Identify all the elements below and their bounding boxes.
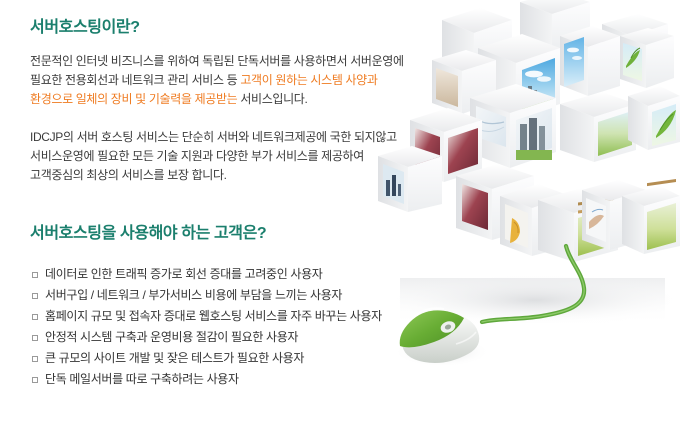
cube-photo-leaf-right bbox=[628, 86, 680, 150]
paragraph-highlight: 환경으로 일체의 장비 및 기술력을 제공받는 bbox=[30, 92, 237, 106]
paragraph-line: IDCJP의 서버 호스팅 서비스는 단순히 서버와 네트워크제공에 국한 되지… bbox=[30, 128, 397, 147]
list-item: 서버구입 / 네트워크 / 부가서비스 비용에 부담을 느끼는 사용자 bbox=[30, 285, 382, 306]
square-bullet-icon bbox=[32, 335, 38, 341]
paragraph-highlight: 고객이 원하는 시스템 사양과 bbox=[240, 73, 377, 87]
paragraph-text: 필요한 전용회선과 네트워크 관리 서비스 등 bbox=[30, 73, 240, 87]
paragraph-line: 환경으로 일체의 장비 및 기술력을 제공받는 서비스입니다. bbox=[30, 90, 404, 109]
square-bullet-icon bbox=[32, 314, 38, 320]
page-root: 서버호스팅이란? 전문적인 인터넷 비즈니스를 위하여 독립된 단독서버를 사용… bbox=[0, 0, 680, 425]
cube-photo-map bbox=[470, 84, 556, 168]
intro-paragraph-1: 전문적인 인터넷 비즈니스를 위하여 독립된 단독서버를 사용하면서 서버운영에… bbox=[30, 52, 404, 109]
square-bullet-icon bbox=[32, 356, 38, 362]
list-item: 안정적 시스템 구축과 운영비용 절감이 필요한 사용자 bbox=[30, 327, 382, 348]
intro-paragraph-2: IDCJP의 서버 호스팅 서비스는 단순히 서버와 네트워크제공에 국한 되지… bbox=[30, 128, 397, 185]
paragraph-line: 전문적인 인터넷 비즈니스를 위하여 독립된 단독서버를 사용하면서 서버운영에 bbox=[30, 52, 404, 71]
list-item-label: 안정적 시스템 구축과 운영비용 절감이 필요한 사용자 bbox=[45, 327, 298, 348]
cube-photo-grass-right bbox=[560, 92, 636, 162]
paragraph-line: 필요한 전용회선과 네트워크 관리 서비스 등 고객이 원하는 시스템 사양과 bbox=[30, 71, 404, 90]
paragraph-text: 전문적인 인터넷 비즈니스를 위하여 독립된 단독서버를 사용하면서 서버운영에 bbox=[30, 54, 404, 68]
cube-photo-leaf-top bbox=[620, 28, 674, 88]
paragraph-line: 서비스운영에 필요한 모든 기술 지원과 다양한 부가 서비스를 제공하여 bbox=[30, 147, 397, 166]
square-bullet-icon bbox=[32, 272, 38, 278]
customer-bullet-list: 데이터로 인한 트래픽 증가로 회선 증대를 고려중인 사용자 서버구입 / 네… bbox=[30, 264, 382, 390]
list-item-label: 큰 규모의 사이트 개발 및 잦은 테스트가 필요한 사용자 bbox=[45, 348, 304, 369]
section-title-intro: 서버호스팅이란? bbox=[30, 18, 140, 37]
list-item-label: 서버구입 / 네트워크 / 부가서비스 비용에 부담을 느끼는 사용자 bbox=[45, 285, 342, 306]
square-bullet-icon bbox=[32, 293, 38, 299]
cube-photo-sky-tall bbox=[560, 26, 620, 96]
paragraph-text: 서비스입니다. bbox=[237, 92, 307, 106]
illustration-cube-montage bbox=[370, 0, 680, 425]
list-item: 단독 메일서버를 따로 구축하려는 사용자 bbox=[30, 369, 382, 390]
list-item: 데이터로 인한 트래픽 증가로 회선 증대를 고려중인 사용자 bbox=[30, 264, 382, 285]
section-title-customers: 서버호스팅을 사용해야 하는 고객은? bbox=[30, 224, 266, 243]
list-item-label: 단독 메일서버를 따로 구축하려는 사용자 bbox=[45, 369, 239, 390]
list-item-label: 데이터로 인한 트래픽 증가로 회선 증대를 고려중인 사용자 bbox=[45, 264, 322, 285]
list-item: 큰 규모의 사이트 개발 및 잦은 테스트가 필요한 사용자 bbox=[30, 348, 382, 369]
cube-montage-svg bbox=[370, 0, 680, 425]
list-item: 홈페이지 규모 및 접속자 증대로 웹호스팅 서비스를 자주 바꾸는 사용자 bbox=[30, 306, 382, 327]
paragraph-line: 고객중심의 최상의 서비스를 보장 합니다. bbox=[30, 166, 397, 185]
square-bullet-icon bbox=[32, 377, 38, 383]
list-item-label: 홈페이지 규모 및 접속자 증대로 웹호스팅 서비스를 자주 바꾸는 사용자 bbox=[45, 306, 382, 327]
